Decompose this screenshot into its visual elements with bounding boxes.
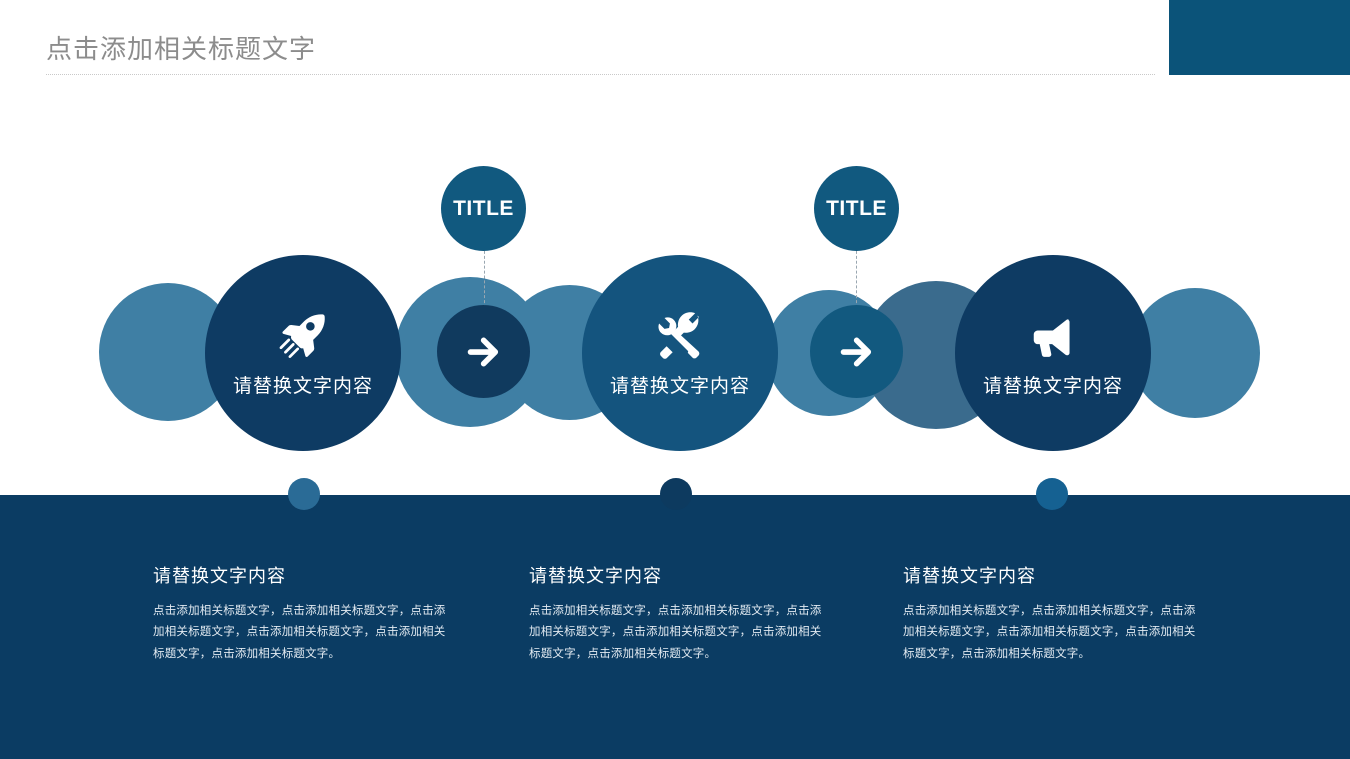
title-bubble-2[interactable]: TITLE (814, 166, 899, 251)
feature-node-tools[interactable]: 请替换文字内容 (582, 255, 778, 451)
column-heading: 请替换文字内容 (903, 562, 1203, 588)
column-heading: 请替换文字内容 (529, 562, 829, 588)
arrow-connector-1[interactable] (437, 305, 530, 398)
column-body: 点击添加相关标题文字，点击添加相关标题文字，点击添加相关标题文字，点击添加相关标… (153, 601, 453, 665)
title-bubble-label: TITLE (826, 197, 887, 221)
title-bubble-label: TITLE (453, 197, 514, 221)
arrow-connector-2[interactable] (810, 305, 903, 398)
arrow-right-icon (459, 327, 509, 377)
title-stem-2 (856, 246, 857, 308)
rocket-icon (275, 309, 331, 365)
column-heading: 请替换文字内容 (153, 562, 453, 588)
slide-canvas: 点击添加相关标题文字 TITLE TITLE (0, 0, 1350, 759)
tools-icon (652, 309, 708, 365)
feature-node-caption: 请替换文字内容 (610, 371, 750, 398)
title-stem-1 (484, 246, 485, 308)
feature-node-caption: 请替换文字内容 (983, 371, 1123, 398)
title-bubble-1[interactable]: TITLE (441, 166, 526, 251)
feature-node-rocket[interactable]: 请替换文字内容 (205, 255, 401, 451)
megaphone-icon (1025, 309, 1081, 365)
text-column-1: 请替换文字内容 点击添加相关标题文字，点击添加相关标题文字，点击添加相关标题文字… (153, 562, 453, 665)
feature-node-megaphone[interactable]: 请替换文字内容 (955, 255, 1151, 451)
feature-node-caption: 请替换文字内容 (233, 371, 373, 398)
divider-dot-3 (1036, 478, 1068, 510)
column-body: 点击添加相关标题文字，点击添加相关标题文字，点击添加相关标题文字，点击添加相关标… (903, 601, 1203, 665)
divider-dot-1 (288, 478, 320, 510)
arrow-right-icon (832, 327, 882, 377)
text-column-3: 请替换文字内容 点击添加相关标题文字，点击添加相关标题文字，点击添加相关标题文字… (903, 562, 1203, 665)
text-column-2: 请替换文字内容 点击添加相关标题文字，点击添加相关标题文字，点击添加相关标题文字… (529, 562, 829, 665)
divider-dot-2 (660, 478, 692, 510)
column-body: 点击添加相关标题文字，点击添加相关标题文字，点击添加相关标题文字，点击添加相关标… (529, 601, 829, 665)
